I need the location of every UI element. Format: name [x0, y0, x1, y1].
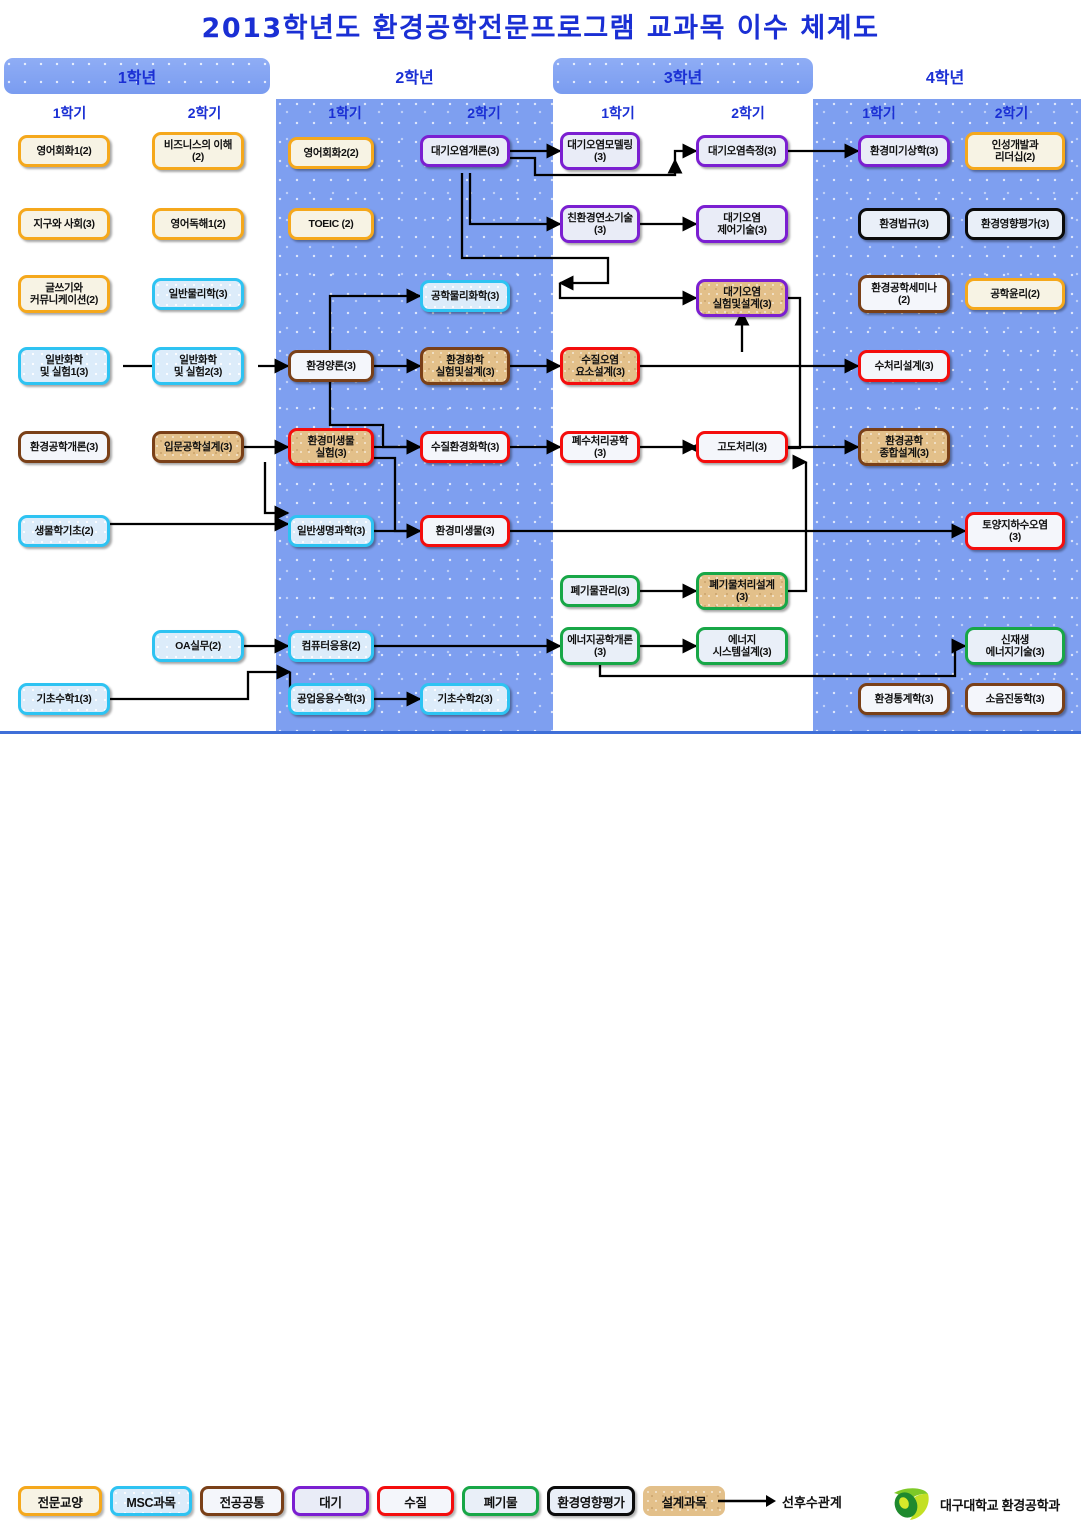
course-box-envstoich[interactable]: 환경양론(3) [288, 350, 374, 382]
course-label-airintro: 대기오염개론(3) [426, 145, 504, 157]
course-box-energysys[interactable]: 에너지 시스템설계(3) [696, 627, 788, 665]
course-label-renewable: 신재생 에너지기술(3) [971, 634, 1059, 658]
course-box-writing[interactable]: 글쓰기와 커뮤니케이션(2) [18, 275, 110, 313]
course-label-wastewater: 폐수처리공학(3) [566, 435, 634, 459]
course-box-wastewater[interactable]: 폐수처리공학(3) [560, 431, 640, 463]
course-box-introdes[interactable]: 입문공학설계(3) [152, 431, 244, 463]
year-header-1: 1학년 [4, 58, 270, 94]
legend-relation-label: 선후수관계 [782, 1492, 842, 1511]
course-label-writing: 글쓰기와 커뮤니케이션(2) [24, 282, 104, 306]
course-box-engphchem[interactable]: 공학물리화학(3) [420, 280, 510, 312]
course-box-computer[interactable]: 컴퓨터응용(2) [288, 630, 374, 662]
course-box-airctrl[interactable]: 대기오염 제어기술(3) [696, 205, 788, 243]
relation-arrow-icon [718, 1494, 776, 1508]
course-box-ethics[interactable]: 공학윤리(2) [965, 278, 1065, 310]
legend-relation: 선후수관계 [718, 1486, 918, 1516]
semester-label-y1s2: 2학기 [139, 100, 270, 126]
course-box-eng1[interactable]: 영어회화1(2) [18, 135, 110, 167]
course-label-engread1: 영어독해1(2) [158, 218, 238, 230]
course-box-envlaw[interactable]: 환경법규(3) [858, 208, 950, 240]
brand: 대구대학교 환경공학과 [890, 1484, 1060, 1524]
course-box-envmicro[interactable]: 환경미생물(3) [420, 515, 510, 547]
year-header-3: 3학년 [553, 58, 813, 94]
legend-item-waste[interactable]: 폐기물 [462, 1486, 539, 1516]
legend-item-air[interactable]: 대기 [292, 1486, 369, 1516]
course-box-greencomb[interactable]: 친환경연소기술 (3) [560, 205, 640, 243]
semester-label-y3s1: 1학기 [553, 100, 683, 126]
course-label-earth: 지구와 사회(3) [24, 218, 104, 230]
course-label-genlife: 일반생명과학(3) [294, 525, 368, 537]
course-label-energyint: 에너지공학개론 (3) [566, 634, 634, 658]
course-label-envchemlab: 환경화학 실험및설계(3) [426, 354, 504, 378]
course-label-math2: 기초수학2(3) [426, 693, 504, 705]
course-box-eia[interactable]: 환경영향평가(3) [965, 208, 1065, 240]
course-box-toeic[interactable]: TOEIC (2) [288, 208, 374, 240]
year-label-4: 4학년 [926, 64, 964, 88]
semester-label-y4s1: 1학기 [813, 100, 945, 126]
course-box-leader[interactable]: 인성개발과 리더십(2) [965, 132, 1065, 170]
course-box-genchem1[interactable]: 일반화학 및 실험1(3) [18, 347, 110, 385]
year-label-2: 2학년 [395, 64, 433, 88]
course-box-airmodel[interactable]: 대기오염모델링 (3) [560, 132, 640, 170]
course-label-airmeas: 대기오염측정(3) [702, 145, 782, 157]
course-box-biobasic[interactable]: 생물학기초(2) [18, 515, 110, 547]
course-label-waterdes2: 수처리설계(3) [864, 360, 944, 372]
brand-label: 대구대학교 환경공학과 [940, 1495, 1060, 1514]
course-label-envstat: 환경통계학(3) [864, 693, 944, 705]
legend-item-design[interactable]: 설계과목 [643, 1486, 725, 1516]
course-box-envchemlab[interactable]: 환경화학 실험및설계(3) [420, 347, 510, 385]
course-label-computer: 컴퓨터응용(2) [294, 640, 368, 652]
course-label-engphchem: 공학물리화학(3) [426, 290, 504, 302]
legend-item-water[interactable]: 수질 [377, 1486, 454, 1516]
course-label-envstoich: 환경양론(3) [294, 360, 368, 372]
course-box-indmath[interactable]: 공업응용수학(3) [288, 683, 374, 715]
course-label-capstone: 환경공학 종합설계(3) [864, 435, 944, 459]
semester-label-y2s2: 2학기 [415, 100, 553, 126]
course-label-waterchem: 수질환경화학(3) [426, 441, 504, 453]
year-header-4: 4학년 [813, 58, 1077, 94]
course-label-biobasic: 생물학기초(2) [24, 525, 104, 537]
course-label-energysys: 에너지 시스템설계(3) [702, 634, 782, 658]
course-box-oa[interactable]: OA실무(2) [152, 630, 244, 662]
course-box-envstat[interactable]: 환경통계학(3) [858, 683, 950, 715]
course-box-airintro[interactable]: 대기오염개론(3) [420, 135, 510, 167]
course-box-envmicrlab[interactable]: 환경미생물 실험(3) [288, 428, 374, 466]
course-label-genchem1: 일반화학 및 실험1(3) [24, 354, 104, 378]
course-box-business[interactable]: 비즈니스의 이해 (2) [152, 132, 244, 170]
course-label-envmicro: 환경미생물(3) [426, 525, 504, 537]
legend-item-eia[interactable]: 환경영향평가 [547, 1486, 635, 1516]
course-box-energyint[interactable]: 에너지공학개론 (3) [560, 627, 640, 665]
course-box-soilgw[interactable]: 토양지하수오염 (3) [965, 512, 1065, 550]
course-label-genchem2: 일반화학 및 실험2(3) [158, 354, 238, 378]
course-box-genphys[interactable]: 일반물리학(3) [152, 278, 244, 310]
semester-label-y2s1: 1학기 [276, 100, 414, 126]
course-box-genlife[interactable]: 일반생명과학(3) [288, 515, 374, 547]
course-label-envlaw: 환경법규(3) [864, 218, 944, 230]
course-box-airlabdes[interactable]: 대기오염 실험및설계(3) [696, 279, 788, 317]
course-box-waterdes[interactable]: 수질오염 요소설계(3) [560, 347, 640, 385]
university-logo-icon [890, 1484, 932, 1524]
course-label-waterdes: 수질오염 요소설계(3) [566, 354, 634, 378]
course-label-airctrl: 대기오염 제어기술(3) [702, 212, 782, 236]
course-label-envintro: 환경공학개론(3) [24, 441, 104, 453]
course-label-envmicrlab: 환경미생물 실험(3) [294, 435, 368, 459]
course-box-math1[interactable]: 기초수학1(3) [18, 683, 110, 715]
course-label-eia: 환경영향평가(3) [971, 218, 1059, 230]
course-label-oa: OA실무(2) [158, 640, 238, 652]
course-box-seminar[interactable]: 환경공학세미나 (2) [858, 275, 950, 313]
course-box-earth[interactable]: 지구와 사회(3) [18, 208, 110, 240]
course-label-greencomb: 친환경연소기술 (3) [566, 212, 634, 236]
course-box-advtreat[interactable]: 고도처리(3) [696, 431, 788, 463]
course-box-eng2[interactable]: 영어회화2(2) [288, 137, 374, 169]
legend: 전문교양 MSC과목 전공공통 대기 수질 폐기물 환경영향평가 설계과목 선후… [0, 734, 1081, 794]
course-label-airlabdes: 대기오염 실험및설계(3) [702, 286, 782, 310]
year-label-1: 1학년 [118, 64, 156, 88]
legend-item-common[interactable]: 전공공통 [200, 1486, 284, 1516]
course-label-introdes: 입문공학설계(3) [158, 441, 238, 453]
course-box-envintro[interactable]: 환경공학개론(3) [18, 431, 110, 463]
course-label-toeic: TOEIC (2) [294, 218, 368, 230]
course-box-capstone[interactable]: 환경공학 종합설계(3) [858, 428, 950, 466]
course-label-eng2: 영어회화2(2) [294, 147, 368, 159]
year-header-2: 2학년 [276, 58, 553, 94]
course-label-advtreat: 고도처리(3) [702, 441, 782, 453]
semester-label-y3s2: 2학기 [683, 100, 813, 126]
course-box-engread1[interactable]: 영어독해1(2) [152, 208, 244, 240]
course-box-math2[interactable]: 기초수학2(3) [420, 683, 510, 715]
semester-label-y4s2: 2학기 [946, 100, 1077, 126]
legend-item-general[interactable]: 전문교양 [18, 1486, 102, 1516]
course-label-noise: 소음진동학(3) [971, 693, 1059, 705]
course-box-genchem2[interactable]: 일반화학 및 실험2(3) [152, 347, 244, 385]
semester-label-y1s1: 1학기 [4, 100, 135, 126]
course-label-micromet: 환경미기상학(3) [864, 145, 944, 157]
course-label-ethics: 공학윤리(2) [971, 288, 1059, 300]
course-label-seminar: 환경공학세미나 (2) [864, 282, 944, 306]
course-box-waterchem[interactable]: 수질환경화학(3) [420, 431, 510, 463]
course-box-renewable[interactable]: 신재생 에너지기술(3) [965, 627, 1065, 665]
legend-item-msc[interactable]: MSC과목 [110, 1486, 192, 1516]
course-label-eng1: 영어회화1(2) [24, 145, 104, 157]
course-label-math1: 기초수학1(3) [24, 693, 104, 705]
course-label-airmodel: 대기오염모델링 (3) [566, 139, 634, 163]
course-label-soilgw: 토양지하수오염 (3) [971, 519, 1059, 543]
course-label-genphys: 일반물리학(3) [158, 288, 238, 300]
course-box-wastedes[interactable]: 폐기물처리설계 (3) [696, 572, 788, 610]
course-label-business: 비즈니스의 이해 (2) [158, 139, 238, 163]
course-box-wastemgmt[interactable]: 폐기물관리(3) [560, 575, 640, 607]
course-box-noise[interactable]: 소음진동학(3) [965, 683, 1065, 715]
course-box-waterdes2[interactable]: 수처리설계(3) [858, 350, 950, 382]
course-label-indmath: 공업응용수학(3) [294, 693, 368, 705]
course-label-wastedes: 폐기물처리설계 (3) [702, 579, 782, 603]
page-title: 2013학년도 환경공학전문프로그램 교과목 이수 체계도 [0, 6, 1081, 45]
course-box-micromet[interactable]: 환경미기상학(3) [858, 135, 950, 167]
course-box-airmeas[interactable]: 대기오염측정(3) [696, 135, 788, 167]
course-label-leader: 인성개발과 리더십(2) [971, 139, 1059, 163]
year-label-3: 3학년 [664, 64, 702, 88]
course-label-wastemgmt: 폐기물관리(3) [566, 585, 634, 597]
